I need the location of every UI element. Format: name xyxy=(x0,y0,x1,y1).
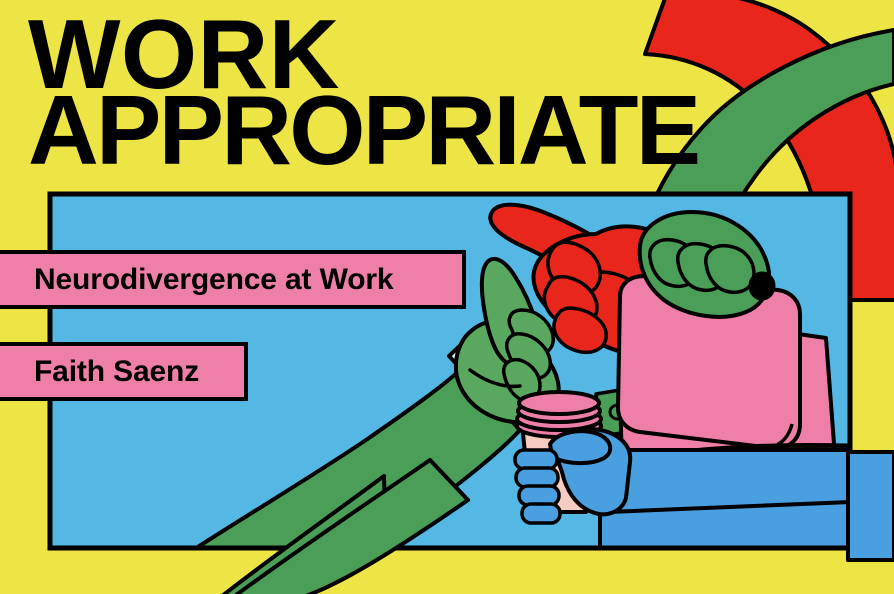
subtitle-banner: Neurodivergence at Work xyxy=(0,250,466,309)
blue-arm-overflow-right xyxy=(848,452,894,560)
subtitle-label: Neurodivergence at Work xyxy=(0,263,393,297)
podcast-episode-cover: WORK APPROPRIATE Neurodivergence at Work… xyxy=(0,0,894,594)
author-banner: Faith Saenz xyxy=(0,342,248,401)
author-label: Faith Saenz xyxy=(0,355,199,389)
